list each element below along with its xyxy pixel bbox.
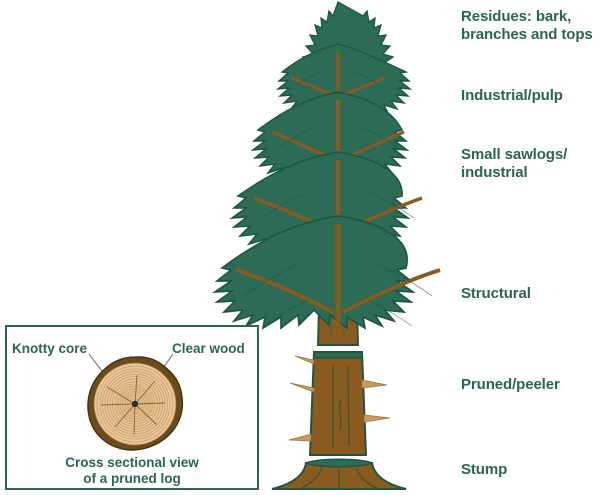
stump [272, 459, 406, 489]
label-small-sawlogs: Small sawlogs/ industrial [461, 146, 567, 183]
label-stump: Stump [461, 461, 507, 479]
pruned-section [289, 352, 390, 455]
diagram-canvas: Residues: bark, branches and tops Indust… [0, 0, 600, 495]
pith-center [132, 401, 138, 407]
inset-caption: Cross sectional view of a pruned log [5, 455, 259, 487]
label-residues: Residues: bark, branches and tops [461, 8, 593, 45]
log-cross-section [85, 355, 185, 455]
label-industrial-pulp: Industrial/pulp [461, 87, 563, 105]
label-pruned-peeler: Pruned/peeler [461, 376, 560, 394]
foliage-group [215, 2, 440, 332]
label-structural: Structural [461, 285, 531, 303]
